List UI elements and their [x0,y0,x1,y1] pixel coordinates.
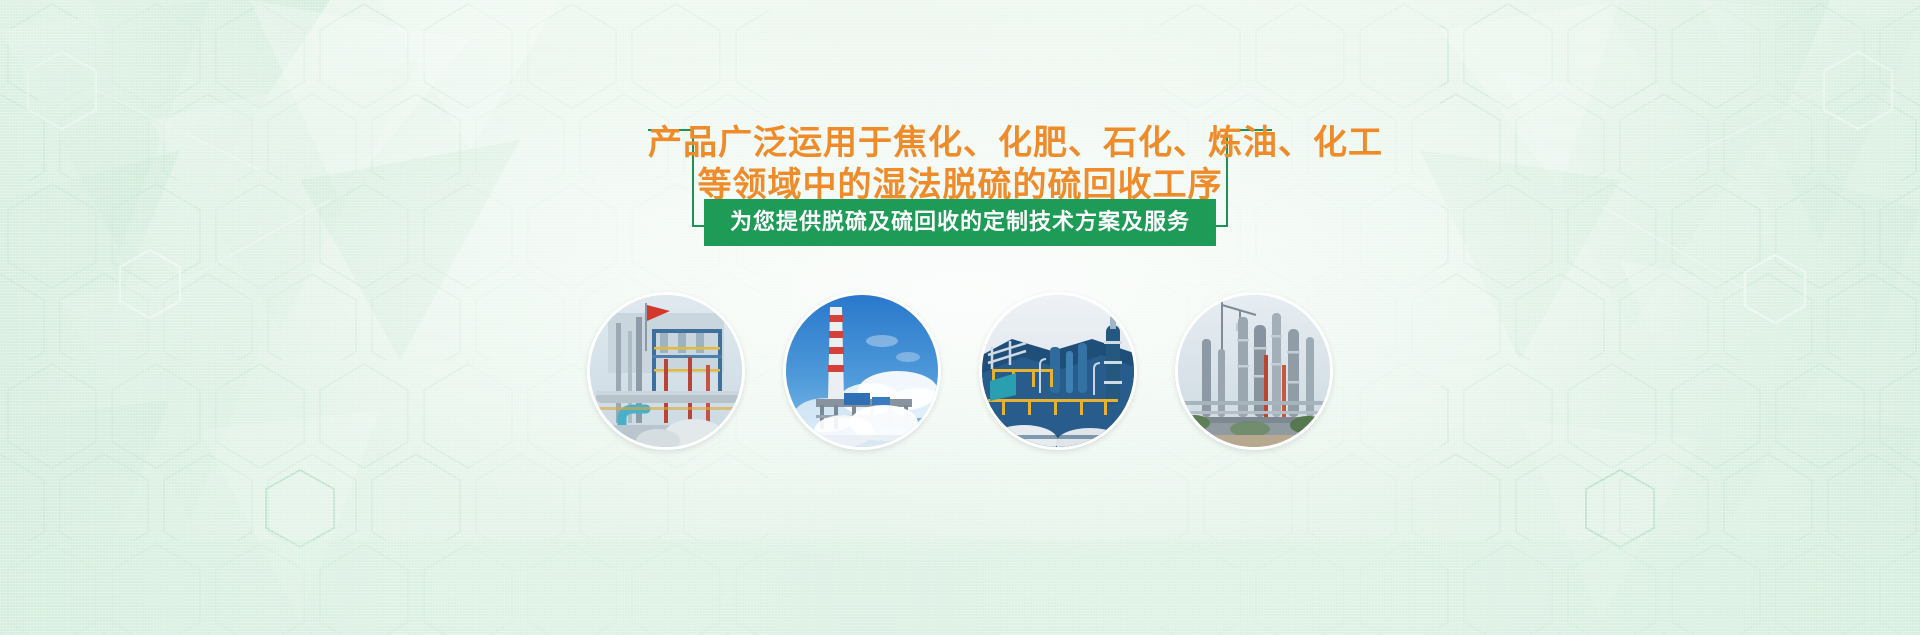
photo-desulfurization-unit: 脱硫装置平台照片 [979,292,1137,450]
headline-block: 产品广泛运用于焦化、化肥、石化、炼油、化工 等领域中的湿法脱硫的硫回收工序 [0,108,1920,206]
photo-power-chimney-alt: 烟囱与厂区照片 [786,295,787,296]
photo-refinery-towers-alt: 炼油塔群照片 [1178,295,1179,296]
promo-banner: 产品广泛运用于焦化、化肥、石化、炼油、化工 等领域中的湿法脱硫的硫回收工序 为您… [0,0,1920,635]
photo-coking-plant-alt: 焦化装置现场照片 [590,295,591,296]
photo-desulfurization-unit-alt: 脱硫装置平台照片 [982,295,983,296]
bracket-frame: 产品广泛运用于焦化、化肥、石化、炼油、化工 等领域中的湿法脱硫的硫回收工序 [648,108,1272,206]
photo-gallery: 焦化装置现场照片 [587,292,1333,450]
headline-line-1: 产品广泛运用于焦化、化肥、石化、炼油、化工 [648,122,1272,164]
photo-coking-plant: 焦化装置现场照片 [587,292,745,450]
photo-refinery-towers: 炼油塔群照片 [1175,292,1333,450]
photo-power-chimney: 烟囱与厂区照片 [783,292,941,450]
headline-text: 产品广泛运用于焦化、化肥、石化、炼油、化工 等领域中的湿法脱硫的硫回收工序 [648,122,1272,206]
subtitle-banner: 为您提供脱硫及硫回收的定制技术方案及服务 [704,199,1216,246]
